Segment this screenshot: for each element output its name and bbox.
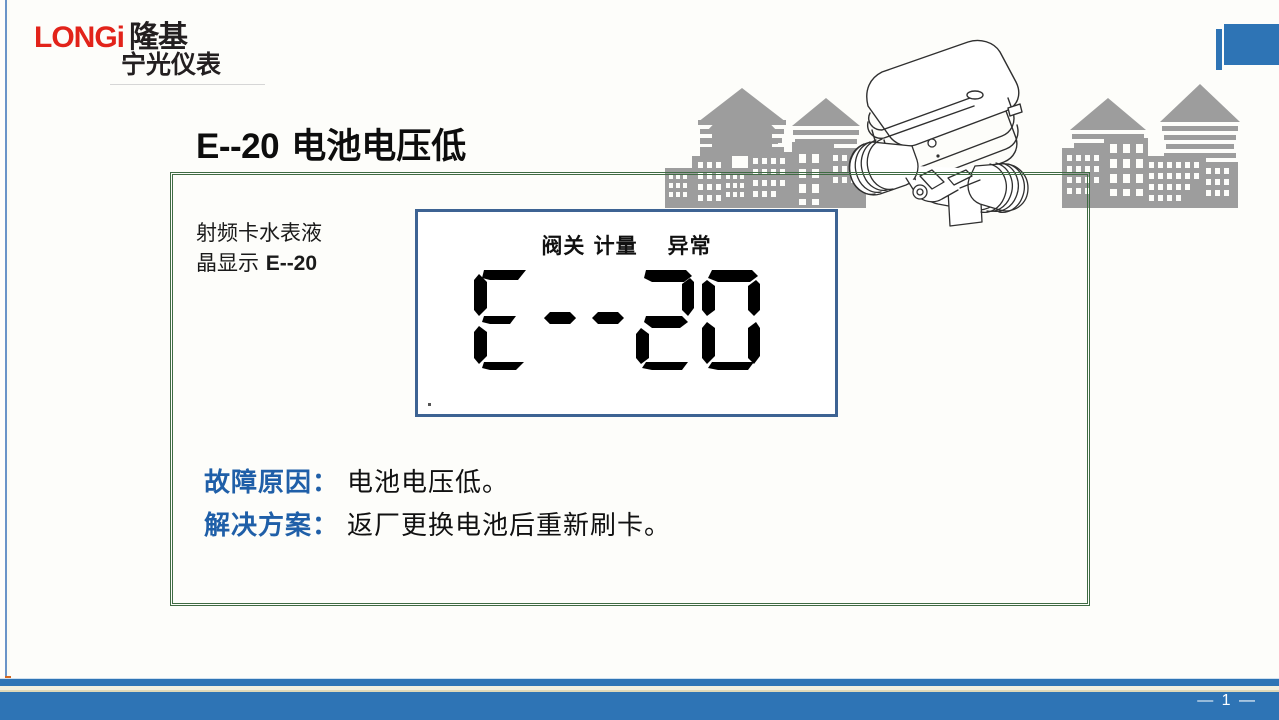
page-title: E--20 电池电压低	[196, 118, 466, 169]
lcd-caption: 射频卡水表液 晶显示 E--20	[196, 218, 371, 279]
explanation-row-cause: 故障原因： 电池电压低。	[204, 462, 671, 499]
explanation-label-solution: 解决方案：	[204, 505, 339, 542]
lcd-digit-2	[632, 264, 698, 374]
decoration-blue-block	[1224, 24, 1279, 65]
lcd-digit-E	[470, 264, 536, 374]
page-title-text: 电池电压低	[291, 127, 466, 167]
page-number: — 1 —	[1197, 692, 1257, 710]
brand-logo-cn-secondary: 宁光仪表	[121, 45, 221, 81]
lcd-caption-line1: 射频卡水表液	[196, 221, 322, 245]
explanation-label-cause: 故障原因：	[204, 462, 339, 499]
explanation-row-solution: 解决方案： 返厂更换电池后重新刷卡。	[204, 505, 671, 542]
header-divider	[110, 84, 265, 85]
brand-logo-latin: LONGi	[34, 21, 124, 54]
lcd-dash-2	[584, 264, 632, 374]
brand-logo: LONGi隆基 宁光仪表	[34, 12, 254, 80]
decoration-blue-bar	[1216, 29, 1222, 70]
lcd-digit-0	[698, 264, 764, 374]
explanation-value-cause: 电池电压低。	[347, 462, 509, 499]
lcd-display: 阀关 计量异常	[415, 209, 838, 417]
lcd-caption-line2-prefix: 晶显示	[196, 251, 266, 275]
page-title-code: E--20	[196, 127, 279, 166]
lcd-reading	[470, 264, 764, 374]
lcd-annunciator-valve-closed: 阀关 计量	[541, 234, 637, 258]
footer-cream-stripe-shadow	[0, 690, 1279, 692]
slide-canvas: LONGi隆基 宁光仪表 E--20 电池电压低	[0, 0, 1279, 720]
footer-bar: — 1 —	[0, 678, 1279, 720]
left-accent-rule-inner	[7, 0, 10, 690]
lcd-annunciator-row: 阀关 计量异常	[418, 230, 835, 260]
lcd-caption-line2-code: E--20	[266, 252, 317, 275]
lcd-dash-1	[536, 264, 584, 374]
explanation-block: 故障原因： 电池电压低。 解决方案： 返厂更换电池后重新刷卡。	[204, 462, 671, 548]
lcd-annunciator-abnormal: 异常	[668, 234, 712, 258]
footer-hairline	[0, 678, 1279, 679]
explanation-value-solution: 返厂更换电池后重新刷卡。	[347, 505, 671, 542]
lcd-corner-dot	[428, 403, 431, 406]
